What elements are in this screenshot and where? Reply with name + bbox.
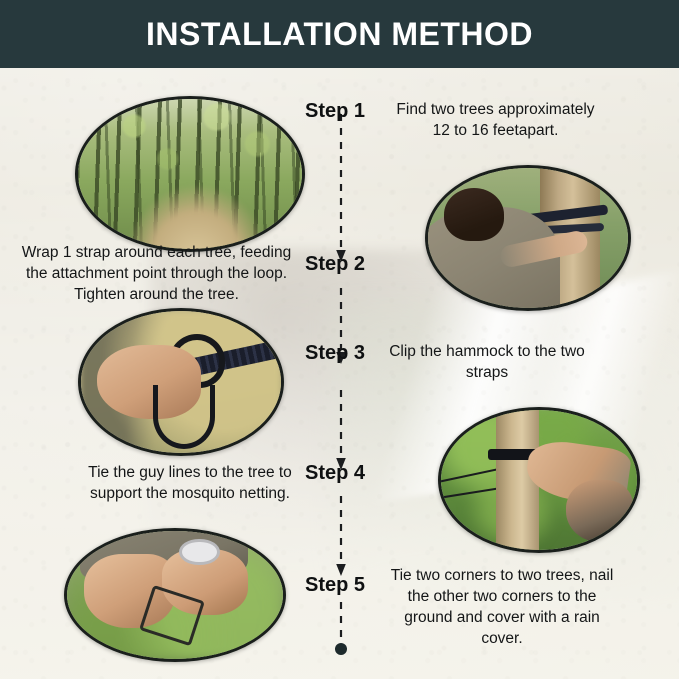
step-text-2: Wrap 1 strap around each tree, feeding t… [14, 243, 299, 306]
forest-scene [78, 99, 302, 249]
guy-line-scene [441, 410, 637, 550]
step-text-1: Find two trees approximately 12 to 16 fe… [388, 100, 603, 142]
wristwatch-shape [179, 539, 220, 565]
guy-line-tie-photo [438, 407, 640, 553]
header-bar: INSTALLATION METHOD [0, 0, 679, 68]
flow-end-dot [335, 643, 347, 655]
step-text-3: Clip the hammock to the two straps [388, 342, 586, 384]
clip-scene [81, 311, 281, 453]
stake-scene [67, 531, 283, 659]
carabiner-clip-photo [78, 308, 284, 456]
step-text-4: Tie the guy lines to the tree to support… [80, 463, 300, 505]
ground-stake-photo [64, 528, 286, 662]
person-head-shape [566, 480, 633, 542]
step-text-5: Tie two corners to two trees, nail the o… [382, 566, 622, 650]
step-label-5: Step 5 [305, 574, 365, 597]
person-head-shape [444, 188, 504, 241]
strap-scene [428, 168, 628, 308]
step-label-4: Step 4 [305, 462, 365, 485]
forest-trail-photo [75, 96, 305, 252]
strap-loop-shape [153, 385, 215, 450]
step-label-2: Step 2 [305, 253, 365, 276]
step-label-3: Step 3 [305, 342, 365, 365]
strap-around-tree-photo [425, 165, 631, 311]
infographic-page: INSTALLATION METHOD [0, 0, 679, 679]
forest-foliage [78, 99, 302, 249]
page-title: INSTALLATION METHOD [146, 16, 533, 53]
step-label-1: Step 1 [305, 100, 365, 123]
